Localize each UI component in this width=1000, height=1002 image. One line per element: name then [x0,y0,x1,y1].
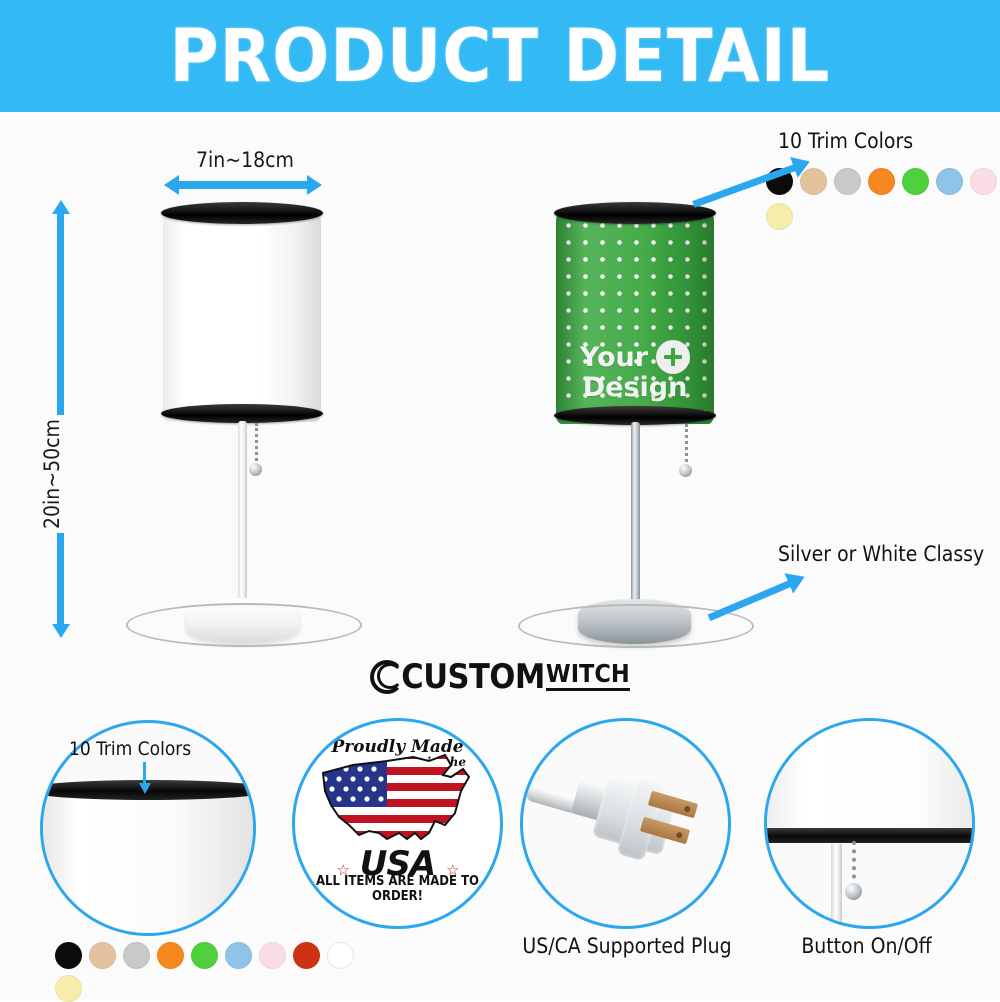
feature-plug: US/CA Supported Plug [512,718,742,988]
swatch-light-blue[interactable] [936,168,963,195]
base-finish-callout-label: Silver or White Classy [778,542,984,566]
feature-row: 10 Trim Colors Proudly Made in the [0,710,1000,1000]
lampshade-blank [163,212,321,422]
swatch-pink[interactable] [970,168,997,195]
swatch-orange-2[interactable] [157,942,184,969]
power-cord-loop [126,603,362,647]
your-design-line1: Your [580,344,648,372]
lampshade-custom-design: Your Design [556,211,714,424]
shade-top-trim [161,202,323,224]
your-design-line2: Design [583,374,688,402]
shade-bottom-illustration [764,718,975,832]
trim-color-swatches-bottom-row2 [55,975,82,1002]
product-detail-page: PRODUCT DETAIL 20in~50cm 7in~18cm [0,0,1000,1000]
swatch-tan-2[interactable] [89,942,116,969]
feature-switch-circle [764,718,975,929]
shade-trim-illustration [764,828,975,843]
swatch-yellow[interactable] [766,203,793,230]
swatch-green[interactable] [902,168,929,195]
feature-usa-circle: Proudly Made in the [292,718,503,929]
feature-plug-caption: US/CA Supported Plug [497,934,757,958]
feature-switch-caption: Button On/Off [759,934,974,958]
feature-switch: Button On/Off [764,718,984,988]
lamp-pole-silver [631,422,640,612]
down-arrow-icon [143,762,146,784]
pull-chain-ball [249,463,262,476]
swatch-red-2[interactable] [293,942,320,969]
swatch-white-2[interactable] [327,942,354,969]
pull-chain-green [685,424,688,468]
page-title: PRODUCT DETAIL [170,14,831,99]
swatch-pink-2[interactable] [259,942,286,969]
trim-color-swatches-top-row2 [766,203,793,230]
trim-colors-callout-label: 10 Trim Colors [778,129,913,153]
swatch-yellow-2[interactable] [55,975,82,1002]
plus-circle-icon [656,340,690,374]
trim-color-swatches-bottom [55,942,354,969]
feature-trim-colors-label: 10 Trim Colors [69,738,191,760]
shade-top-trim-green [554,202,716,224]
custom-c-icon [370,660,404,694]
swatch-light-blue-2[interactable] [225,942,252,969]
swatch-gray[interactable] [834,168,861,195]
swatch-orange[interactable] [868,168,895,195]
page-header: PRODUCT DETAIL [0,0,1000,112]
brand-name-sub: WITCH [546,661,630,691]
pull-chain [255,423,258,467]
width-dimension-label: 7in~18cm [192,148,298,172]
swatch-green-2[interactable] [191,942,218,969]
width-dimension-arrow [178,181,308,189]
usa-badge: Proudly Made in the [295,721,500,926]
pull-chain-illustration [852,841,856,887]
your-design-placeholder: Your Design [556,340,714,402]
height-dimension-label: 20in~50cm [40,415,64,533]
shade-crop-illustration [40,786,256,936]
usa-badge-bottom-text: ALL ITEMS ARE MADE TO ORDER! [295,874,500,904]
feature-plug-circle [520,718,731,929]
swatch-gray-2[interactable] [123,942,150,969]
brand-logo: CUSTOM WITCH [0,660,1000,694]
pull-chain-ball-green [679,464,692,477]
brand-name-main: CUSTOM [401,660,545,694]
pull-chain-ball-illustration [845,883,862,900]
lamp-pole-white [238,421,247,611]
feature-made-in-usa: Proudly Made in the [292,718,508,934]
feature-trim-colors: 10 Trim Colors [40,720,256,936]
base-finish-pointer-arrow [708,580,792,621]
main-product-stage: 20in~50cm 7in~18cm Your [0,118,1000,658]
swatch-black-2[interactable] [55,942,82,969]
lamp-pole-illustration [831,844,842,929]
